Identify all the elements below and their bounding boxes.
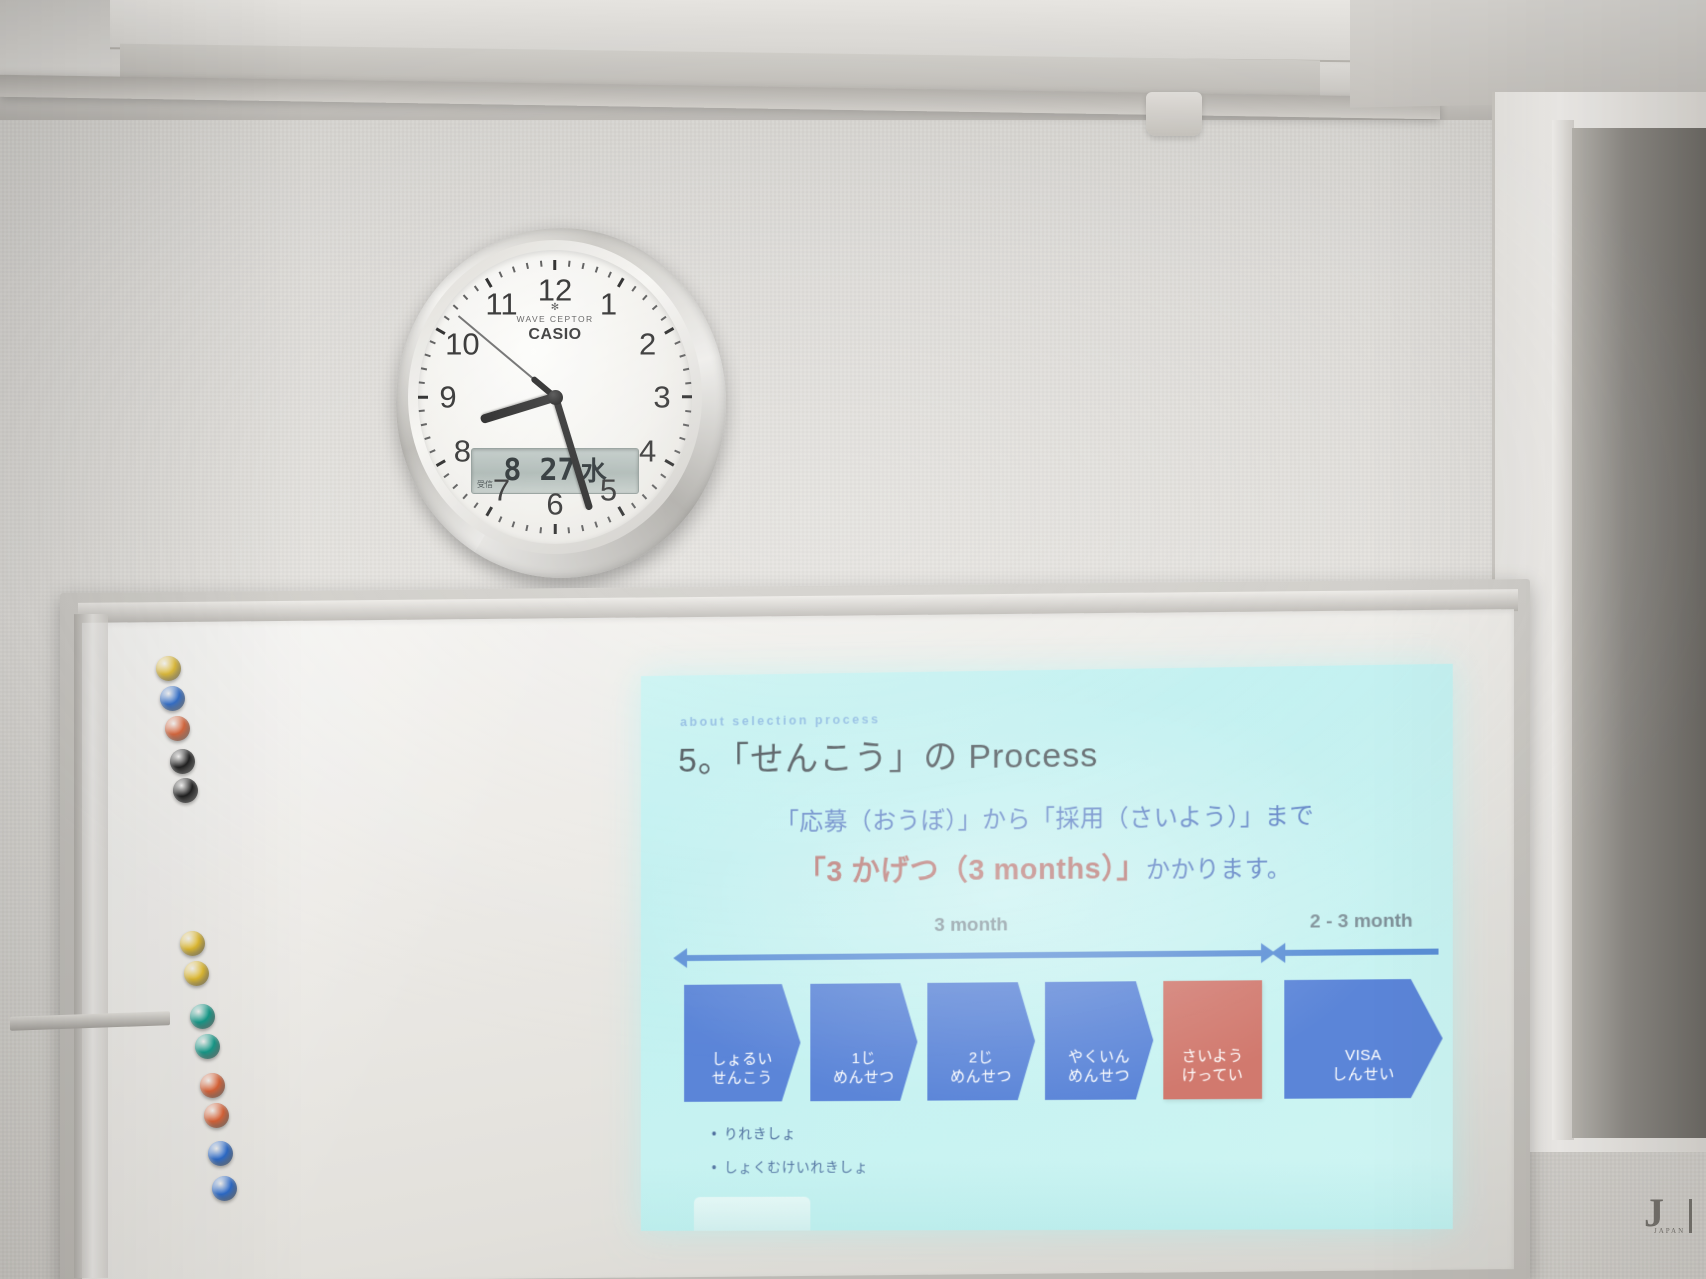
scene-vignette bbox=[0, 0, 1706, 1279]
watermark-bar bbox=[1689, 1199, 1692, 1233]
watermark-subtext: JAPAN bbox=[1654, 1227, 1690, 1235]
screenshot-root: ✻ WAVE CEPTOR CASIO 受信 8 27 水 1212345678… bbox=[0, 0, 1706, 1279]
corner-watermark: J JAPAN bbox=[1644, 1193, 1690, 1243]
